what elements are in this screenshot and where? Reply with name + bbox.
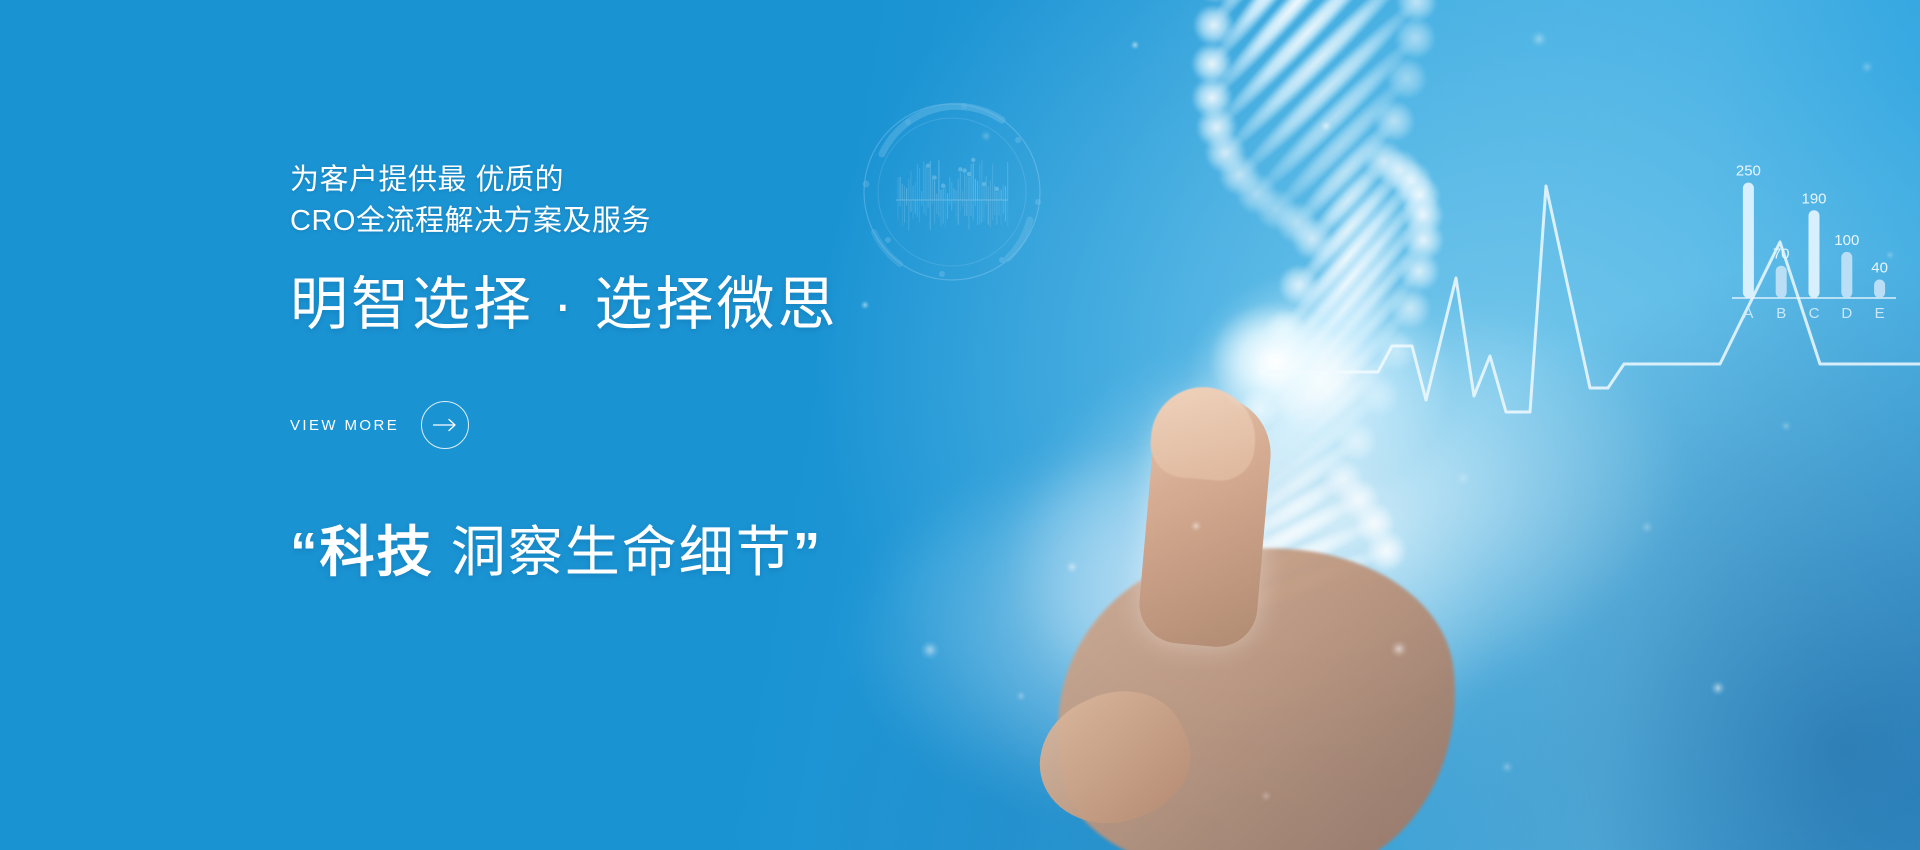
chart-category-label: D <box>1841 305 1852 322</box>
chart-bar <box>1743 183 1754 298</box>
bokeh-dot <box>1320 120 1332 132</box>
bokeh-dot <box>1500 760 1514 774</box>
chart-value-label: 190 <box>1801 190 1826 207</box>
bokeh-dot <box>1190 520 1202 532</box>
chart-category-label: C <box>1809 305 1820 322</box>
chart-value-label: 250 <box>1736 163 1761 180</box>
bokeh-dot <box>1710 680 1726 696</box>
hero-banner: 250A70B190C100D40E 为客户提供最 优质的 CRO全流程解决方案… <box>0 0 1920 850</box>
subtitle-line-2: CRO全流程解决方案及服务 <box>290 201 1190 242</box>
bokeh-dot <box>1640 520 1654 534</box>
chart-value-label: 100 <box>1834 232 1859 249</box>
bokeh-dot <box>1390 640 1408 658</box>
chart-category-label: B <box>1776 305 1786 322</box>
bokeh-dot <box>1455 470 1471 486</box>
view-more-label: VIEW MORE <box>290 417 399 434</box>
mini-bar-chart: 250A70B190C100D40E <box>1718 148 1920 338</box>
hero-headline: 明智选择 · 选择微思 <box>290 272 1190 339</box>
quote-keyword: 科技 <box>320 521 434 583</box>
view-more-button[interactable]: VIEW MORE <box>290 401 469 449</box>
hero-quote: “科技 洞察生命细节” <box>290 507 1190 587</box>
hero-content: 为客户提供最 优质的 CRO全流程解决方案及服务 明智选择 · 选择微思 VIE… <box>290 0 1190 850</box>
bokeh-dot <box>1860 60 1874 74</box>
arrow-right-icon[interactable] <box>421 401 469 449</box>
bokeh-dot <box>1530 30 1548 48</box>
chart-bar <box>1809 210 1820 298</box>
subtitle-line-1: 为客户提供最 优质的 <box>290 160 1190 201</box>
chart-category-label: E <box>1875 305 1885 322</box>
chart-bar <box>1841 252 1852 298</box>
chart-bar <box>1776 266 1787 298</box>
quote-close-mark: ” <box>793 521 823 583</box>
chart-value-label: 40 <box>1871 260 1888 277</box>
chart-bar <box>1874 280 1885 298</box>
chart-category-label: A <box>1743 305 1753 322</box>
chart-value-label: 70 <box>1773 246 1790 263</box>
bokeh-dot <box>1260 790 1272 802</box>
hero-subtitle: 为客户提供最 优质的 CRO全流程解决方案及服务 <box>290 160 1190 242</box>
quote-rest: 洞察生命细节 <box>434 521 793 583</box>
quote-open-mark: “ <box>290 521 320 583</box>
